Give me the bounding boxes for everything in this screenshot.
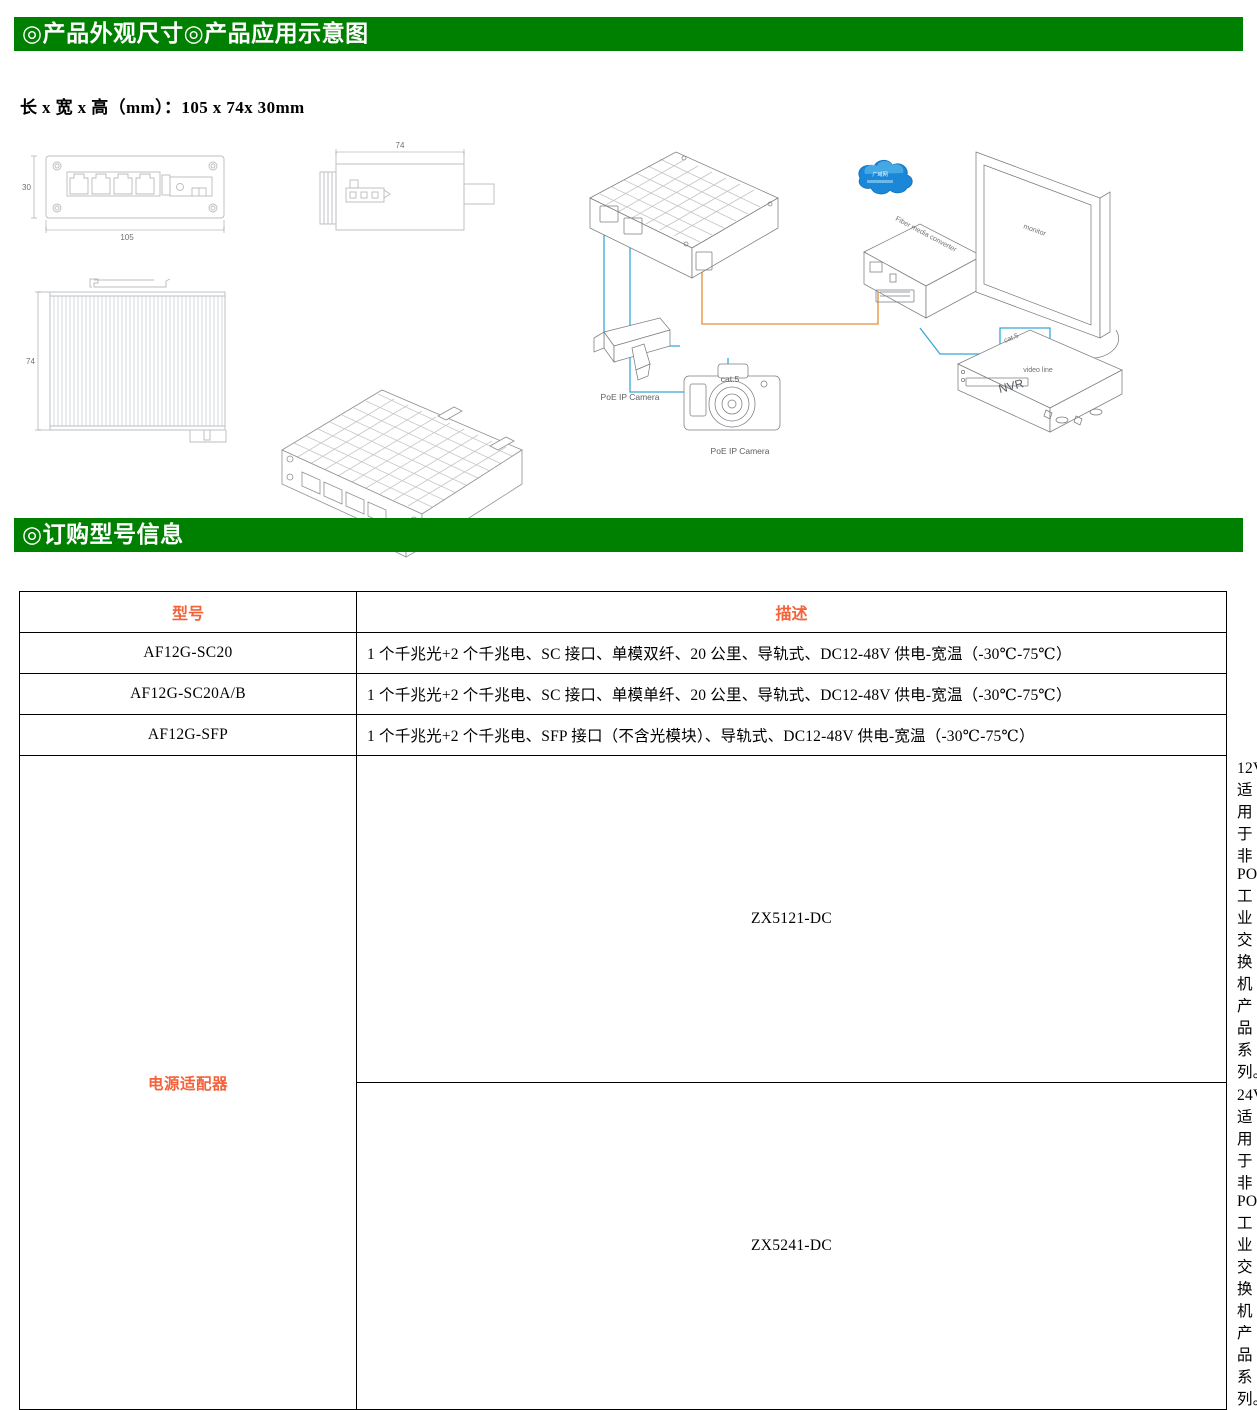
- table-row: AF12G-SC20 1 个千兆光+2 个千兆电、SC 接口、单模双纤、20 公…: [20, 633, 1227, 674]
- nvr-device: NVR: [958, 330, 1122, 432]
- top-view-width-label: 74: [396, 141, 405, 150]
- cell-model: AF12G-SFP: [20, 715, 357, 756]
- table-row: 电源适配器 ZX5121-DC 12V/1A，适用于非 POE 工业交换机产品系…: [20, 756, 1227, 1083]
- poe-camera-bullet: PoE IP Camera: [594, 318, 670, 402]
- section-banner-dimensions: ◎产品外观尺寸◎产品应用示意图: [14, 17, 1243, 51]
- front-view-width-label: 105: [120, 233, 134, 242]
- product-dimension-drawings: 30 105: [14, 132, 554, 472]
- column-header-model: 型号: [20, 592, 357, 633]
- cell-description: 1 个千兆光+2 个千兆电、SC 接口、单模单纤、20 公里、导轨式、DC12-…: [357, 674, 1227, 715]
- ordering-information-table: 型号 描述 AF12G-SC20 1 个千兆光+2 个千兆电、SC 接口、单模双…: [19, 591, 1227, 1410]
- poe-camera-label-top: PoE IP Camera: [601, 392, 660, 402]
- poe-camera-label-bottom: PoE IP Camera: [711, 446, 770, 456]
- front-view-height-label: 30: [22, 183, 31, 192]
- column-header-description: 描述: [357, 592, 1227, 633]
- table-header-row: 型号 描述: [20, 592, 1227, 633]
- cat5-label-left: cat.5: [721, 374, 740, 384]
- industrial-switch-device: [590, 152, 778, 278]
- cell-adapter-model: ZX5121-DC: [357, 756, 1227, 1083]
- cell-description: 1 个千兆光+2 个千兆电、SC 接口、单模双纤、20 公里、导轨式、DC12-…: [357, 633, 1227, 674]
- side-view-drawing: 74: [26, 279, 226, 442]
- table-row: AF12G-SFP 1 个千兆光+2 个千兆电、SFP 接口（不含光模块）、导轨…: [20, 715, 1227, 756]
- cloud-wan-label: 广域网: [872, 170, 888, 178]
- front-view-drawing: 30 105: [22, 156, 224, 242]
- fiber-media-converter-device: Fiber media converter: [864, 216, 982, 318]
- side-view-height-label: 74: [26, 357, 35, 366]
- section-banner-ordering: ◎订购型号信息: [14, 518, 1243, 552]
- cell-description: 1 个千兆光+2 个千兆电、SFP 接口（不含光模块）、导轨式、DC12-48V…: [357, 715, 1227, 756]
- cell-adapter-group-label: 电源适配器: [20, 756, 357, 1410]
- top-view-drawing: 74: [320, 141, 494, 230]
- cell-adapter-model: ZX5241-DC: [357, 1083, 1227, 1410]
- application-topology-diagram: 广域网 Fiber media converter monitor: [560, 132, 1250, 472]
- dimension-note: 长 x 宽 x 高（mm）：105 x 74x 30mm: [20, 93, 305, 118]
- wan-cloud-icon: 广域网: [859, 160, 912, 194]
- cell-model: AF12G-SC20A/B: [20, 674, 357, 715]
- monitor-device: monitor: [976, 152, 1110, 338]
- table-row: AF12G-SC20A/B 1 个千兆光+2 个千兆电、SC 接口、单模单纤、2…: [20, 674, 1227, 715]
- cell-model: AF12G-SC20: [20, 633, 357, 674]
- video-line-label: video line: [1023, 367, 1053, 374]
